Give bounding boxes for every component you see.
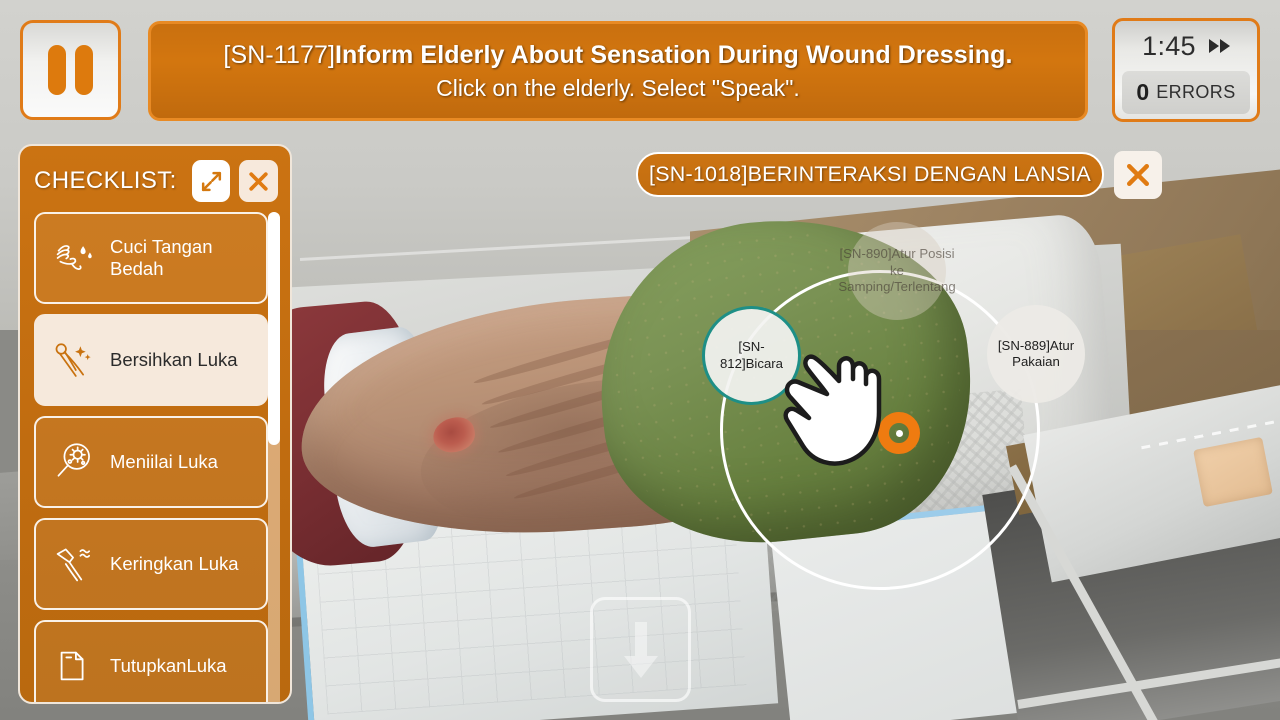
checklist-item-cuci-tangan-bedah[interactable]: Cuci Tangan Bedah — [34, 212, 268, 304]
radial-option-label: [SN-890]Atur Posisi ke Samping/Terlentan… — [838, 246, 955, 296]
status-panel: 1:45 0 ERRORS — [1112, 18, 1260, 122]
checklist-items: Cuci Tangan Bedah Bersihkan Luka — [34, 212, 268, 704]
close-icon[interactable] — [1114, 151, 1162, 199]
checklist-item-label: Keringkan Luka — [110, 553, 239, 575]
errors-count: 0 — [1136, 79, 1149, 106]
radial-option-label: [SN-812]Bicara — [711, 339, 792, 372]
radial-option-clothing[interactable]: [SN-889]Atur Pakaian — [987, 305, 1085, 403]
timer-value: 1:45 — [1142, 31, 1196, 62]
task-instruction: Click on the elderly. Select "Speak". — [436, 75, 800, 102]
forceps-sparkle-icon — [50, 339, 98, 381]
checklist-item-label: Meniilai Luka — [110, 451, 218, 473]
checklist-item-tutupkan-luka[interactable]: TutupkanLuka — [34, 620, 268, 704]
pause-icon — [75, 45, 93, 95]
checklist-body: Cuci Tangan Bedah Bersihkan Luka — [34, 212, 278, 704]
drop-slot[interactable] — [590, 597, 691, 702]
pause-button[interactable] — [20, 20, 121, 120]
expand-arrows-icon[interactable] — [192, 160, 231, 202]
errors-badge: 0 ERRORS — [1122, 71, 1250, 114]
radial-option-label: [SN-889]Atur Pakaian — [993, 338, 1079, 371]
timer-row: 1:45 — [1142, 26, 1230, 66]
task-banner: [SN-1177]Inform Elderly About Sensation … — [148, 21, 1088, 121]
task-title-line: [SN-1177]Inform Elderly About Sensation … — [223, 41, 1012, 69]
down-arrow-icon — [615, 618, 667, 682]
magnifier-germ-icon — [50, 441, 98, 483]
washing-hands-icon — [50, 238, 98, 278]
checklist-item-keringkan-luka[interactable]: Keringkan Luka — [34, 518, 268, 610]
close-icon[interactable] — [239, 160, 278, 202]
checklist-item-bersihkan-luka[interactable]: Bersihkan Luka — [34, 314, 268, 406]
dressing-pad-icon — [50, 645, 98, 687]
checklist-panel: CHECKLIST: — [18, 144, 292, 704]
task-title: Inform Elderly About Sensation During Wo… — [335, 41, 1013, 69]
checklist-title: CHECKLIST: — [34, 167, 177, 195]
checklist-item-label: Bersihkan Luka — [110, 349, 238, 371]
task-code: [SN-1177] — [223, 41, 335, 69]
checklist-scroll-thumb[interactable] — [268, 212, 280, 445]
pause-icon — [48, 45, 66, 95]
checklist-item-label: TutupkanLuka — [110, 655, 227, 677]
interaction-title: [SN-1018]BERINTERAKSI DENGAN LANSIA — [649, 162, 1091, 187]
checklist-item-label: Cuci Tangan Bedah — [110, 236, 256, 280]
fast-forward-icon[interactable] — [1209, 39, 1230, 53]
interaction-title-bar: [SN-1018]BERINTERAKSI DENGAN LANSIA — [636, 152, 1104, 197]
checklist-scrollbar[interactable] — [268, 212, 280, 704]
radial-option-position[interactable]: [SN-890]Atur Posisi ke Samping/Terlentan… — [848, 222, 946, 320]
checklist-item-meniilai-luka[interactable]: Meniilai Luka — [34, 416, 268, 508]
checklist-header: CHECKLIST: — [34, 156, 278, 206]
pointing-hand-cursor-icon — [783, 332, 893, 477]
forceps-dry-icon — [50, 543, 98, 585]
errors-label: ERRORS — [1156, 82, 1235, 103]
